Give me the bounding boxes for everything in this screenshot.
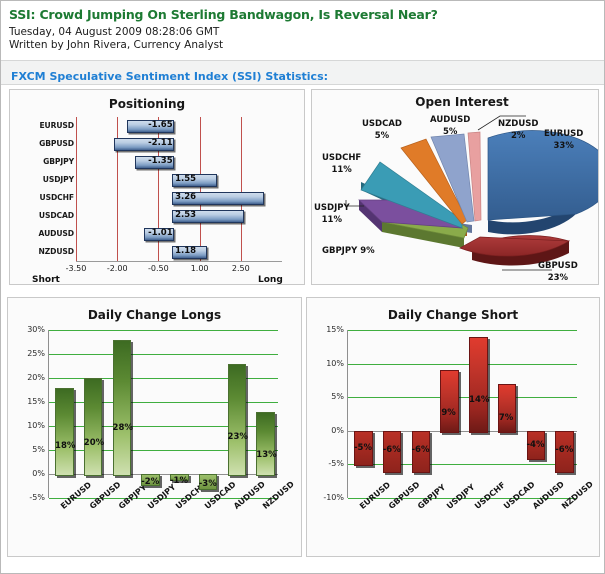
positioning-category-label: NZDUSD	[16, 247, 74, 256]
y-axis-tick-label: -5%	[11, 493, 45, 502]
chart-bar	[55, 388, 74, 476]
x-axis-category-label: GBPUSD	[387, 480, 421, 511]
pie-label-value: 5%	[362, 130, 402, 142]
daily-change-longs-plot-area: -5%0%5%10%15%20%25%30%18%EURUSD20%GBPUSD…	[48, 330, 278, 498]
x-axis-category-label: USDCHF	[473, 480, 507, 511]
section-header-bar: FXCM Speculative Sentiment Index (SSI) S…	[1, 60, 604, 85]
daily-change-short-chart: Daily Change Short -10%-5%0%5%10%15%-5%E…	[306, 297, 600, 557]
pie-label-name: USDCHF	[322, 152, 361, 164]
chart-bar-value: 18%	[55, 441, 72, 451]
positioning-chart-title: Positioning	[9, 97, 304, 111]
pie-label-value: 11%	[314, 214, 350, 226]
pie-label-value: 2%	[498, 130, 538, 142]
chart-bar-value: -6%	[555, 445, 572, 455]
positioning-bar-value: 3.26	[175, 192, 196, 203]
gridline	[49, 354, 278, 355]
chart-bar-value: 20%	[84, 438, 101, 448]
y-axis-tick-label: 5%	[11, 445, 45, 454]
chart-bar-value: -1%	[170, 476, 187, 486]
chart-bar	[228, 364, 247, 476]
positioning-category-label: AUDUSD	[16, 229, 74, 238]
chart-bar-value: -5%	[354, 443, 371, 453]
x-axis-category-label: USDJPY	[445, 482, 476, 510]
y-axis-tick-label: 0%	[310, 426, 344, 435]
x-axis-category-label: NZDUSD	[560, 480, 595, 511]
x-axis-category-label: USDCAD	[502, 480, 537, 511]
positioning-bar-value: 1.55	[175, 174, 196, 185]
positioning-x-tick-label: -0.50	[138, 264, 178, 273]
gridline	[348, 364, 577, 365]
positioning-short-label: Short	[32, 275, 60, 285]
chart-bar-value: -3%	[199, 479, 216, 489]
chart-bar	[440, 370, 459, 432]
chart-bar-value: -2%	[141, 477, 158, 487]
positioning-long-label: Long	[258, 275, 283, 285]
article-timestamp: Tuesday, 04 August 2009 08:28:06 GMT	[9, 26, 596, 39]
section-header-label: FXCM Speculative Sentiment Index (SSI) S…	[11, 70, 328, 83]
daily-change-longs-chart: Daily Change Longs -5%0%5%10%15%20%25%30…	[7, 297, 302, 557]
positioning-bar-value: 2.53	[175, 210, 196, 221]
chart-bar	[113, 340, 132, 476]
positioning-bar-value: -1.01	[148, 228, 170, 239]
positioning-x-tick-label: 1.00	[180, 264, 220, 273]
daily-change-short-plot-area: -10%-5%0%5%10%15%-5%EURUSD-6%GBPUSD-6%GB…	[347, 330, 577, 498]
daily-change-short-title: Daily Change Short	[307, 308, 599, 322]
y-axis-tick-label: -10%	[310, 493, 344, 502]
positioning-bar-value: 1.18	[175, 246, 196, 257]
x-axis-category-label: NZDUSD	[261, 480, 296, 511]
positioning-gridline	[76, 117, 77, 261]
positioning-x-tick-label: -2.00	[97, 264, 137, 273]
y-axis-tick-label: 20%	[11, 373, 45, 382]
chart-bar-value: -6%	[383, 445, 400, 455]
pie-label-name: GBPUSD	[538, 260, 578, 272]
article-byline: Written by John Rivera, Currency Analyst	[9, 39, 596, 52]
pie-label-name: NZDUSD	[498, 118, 538, 130]
positioning-category-label: USDCHF	[16, 193, 74, 202]
pie-label-value: 11%	[322, 164, 361, 176]
x-axis-category-label: EURUSD	[358, 480, 392, 511]
chart-bar-value: 13%	[256, 450, 273, 460]
chart-bar	[256, 412, 275, 476]
positioning-chart: Positioning EURUSDGBPUSDGBPJPYUSDJPYUSDC…	[9, 89, 305, 285]
positioning-x-tick-label: 2.50	[221, 264, 261, 273]
charts-row-bottom: Daily Change Longs -5%0%5%10%15%20%25%30…	[1, 297, 604, 559]
pie-label-value: 33%	[544, 140, 583, 152]
chart-bar-value: 28%	[113, 423, 130, 433]
pie-label-usdchf: USDCHF11%	[322, 152, 361, 176]
positioning-gridline	[200, 117, 201, 261]
positioning-bar-value: -2.11	[148, 138, 170, 149]
positioning-bar-value: -1.65	[148, 120, 170, 131]
positioning-plot-area	[76, 117, 282, 261]
pie-label-value: 5%	[430, 126, 470, 138]
y-axis-tick-label: 10%	[11, 421, 45, 430]
positioning-category-label: GBPUSD	[16, 139, 74, 148]
chart-bar-value: -6%	[412, 445, 429, 455]
y-axis-tick-label: 15%	[310, 325, 344, 334]
chart-bar	[84, 378, 103, 476]
y-axis-tick-label: 10%	[310, 359, 344, 368]
pie-label-value: 23%	[538, 272, 578, 284]
chart-bar-value: 23%	[228, 432, 245, 442]
positioning-bar-value: -1.35	[148, 156, 170, 167]
pie-label-gbpjpy: GBPJPY 9%	[322, 245, 375, 257]
y-axis-tick-label: 0%	[11, 469, 45, 478]
charts-row-top: Positioning EURUSDGBPUSDGBPJPYUSDJPYUSDC…	[1, 89, 604, 289]
y-axis-tick-label: 30%	[11, 325, 45, 334]
y-axis-tick-label: 25%	[11, 349, 45, 358]
positioning-axis-line	[76, 261, 282, 262]
chart-bar-value: 7%	[498, 413, 515, 423]
page-title: SSI: Crowd Jumping On Sterling Bandwagon…	[9, 7, 596, 22]
pie-label-name: EURUSD	[544, 128, 583, 140]
positioning-x-tick-label: -3.50	[56, 264, 96, 273]
article-header: SSI: Crowd Jumping On Sterling Bandwagon…	[1, 1, 604, 52]
positioning-category-label: USDCAD	[16, 211, 74, 220]
open-interest-chart: Open Interest	[311, 89, 599, 285]
chart-bar-value: -4%	[527, 440, 544, 450]
y-axis-tick-label: -5%	[310, 459, 344, 468]
pie-label-name: USDJPY	[314, 202, 350, 214]
pie-label-gbpusd: GBPUSD23%	[538, 260, 578, 284]
y-axis-tick-label: 5%	[310, 392, 344, 401]
x-axis-category-label: EURUSD	[59, 480, 93, 511]
positioning-category-label: GBPJPY	[16, 157, 74, 166]
gridline	[348, 397, 577, 398]
x-axis-category-label: AUDUSD	[531, 480, 566, 511]
positioning-category-label: USDJPY	[16, 175, 74, 184]
pie-label-usdjpy: USDJPY11%	[314, 202, 350, 226]
positioning-category-label: EURUSD	[16, 121, 74, 130]
chart-bar	[498, 384, 517, 433]
pie-label-nzdusd: NZDUSD2%	[498, 118, 538, 142]
pie-label-name: AUDUSD	[430, 114, 470, 126]
pie-label-usdcad: USDCAD5%	[362, 118, 402, 142]
chart-bar-value: 9%	[440, 408, 457, 418]
x-axis-category-label: GBPUSD	[88, 480, 122, 511]
positioning-gridline	[241, 117, 242, 261]
x-axis-category-label: AUDUSD	[232, 480, 267, 511]
article-page: SSI: Crowd Jumping On Sterling Bandwagon…	[0, 0, 605, 574]
pie-label-name: USDCAD	[362, 118, 402, 130]
chart-bar	[469, 337, 488, 433]
daily-change-longs-title: Daily Change Longs	[8, 308, 301, 322]
pie-label-audusd: AUDUSD5%	[430, 114, 470, 138]
y-axis-tick-label: 15%	[11, 397, 45, 406]
gridline	[348, 330, 577, 331]
chart-bar-value: 14%	[469, 395, 486, 405]
gridline	[49, 330, 278, 331]
pie-label-eurusd: EURUSD33%	[544, 128, 583, 152]
